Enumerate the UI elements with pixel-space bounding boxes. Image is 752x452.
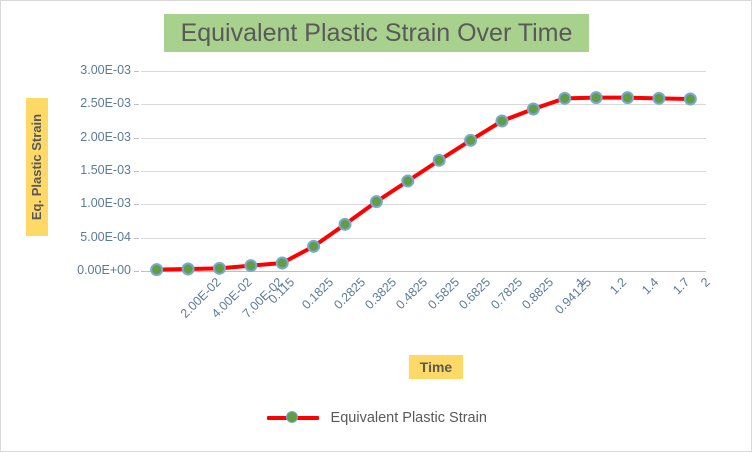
chart-title: Equivalent Plastic Strain Over Time bbox=[164, 14, 589, 52]
y-axis-tick-label: 0.00E+00 bbox=[53, 263, 131, 277]
y-axis-tick-mark bbox=[134, 271, 139, 272]
data-point-marker bbox=[371, 196, 382, 207]
data-point-marker bbox=[685, 94, 696, 105]
legend-entry-label: Equivalent Plastic Strain bbox=[331, 410, 487, 426]
x-axis-line bbox=[141, 271, 706, 272]
y-axis-tick-mark bbox=[134, 71, 139, 72]
data-point-marker bbox=[496, 116, 507, 127]
data-point-marker bbox=[465, 135, 476, 146]
y-axis-title-label: Eq. Plastic Strain bbox=[26, 98, 48, 236]
x-axis-tick-label: 0.8825 bbox=[519, 275, 556, 312]
y-axis-tick-label: 3.00E-03 bbox=[53, 63, 131, 77]
data-point-marker bbox=[308, 241, 319, 252]
chart-legend: Equivalent Plastic Strain bbox=[1, 409, 752, 427]
y-axis-tick-labels: 3.00E-032.50E-032.00E-031.50E-031.00E-03… bbox=[53, 71, 131, 271]
x-axis-tick-label: 1.4 bbox=[639, 275, 661, 297]
y-axis-tick-label: 2.00E-03 bbox=[53, 130, 131, 144]
data-point-marker bbox=[434, 155, 445, 166]
x-axis-tick-label: 1.7 bbox=[670, 275, 692, 297]
plot-area bbox=[141, 71, 706, 271]
chart-container: Equivalent Plastic Strain Over Time Eq. … bbox=[0, 0, 752, 452]
x-axis-tick-label: 0.5825 bbox=[425, 275, 462, 312]
y-axis-tick-label: 1.50E-03 bbox=[53, 163, 131, 177]
series-line-chart bbox=[141, 71, 706, 271]
data-point-marker bbox=[277, 258, 288, 269]
y-axis-tick-mark bbox=[134, 171, 139, 172]
data-point-marker bbox=[340, 219, 351, 230]
x-axis-tick-label: 0.4825 bbox=[394, 275, 431, 312]
data-point-marker bbox=[653, 93, 664, 104]
data-point-marker bbox=[622, 92, 633, 103]
x-axis-tick-label: 0.2825 bbox=[331, 275, 368, 312]
series-line bbox=[157, 98, 691, 270]
y-axis-tick-label: 5.00E-04 bbox=[53, 230, 131, 244]
data-point-marker bbox=[245, 260, 256, 271]
x-axis-tick-label: 2 bbox=[698, 275, 713, 290]
data-point-marker bbox=[402, 176, 413, 187]
data-point-marker bbox=[183, 264, 194, 275]
data-point-marker bbox=[151, 264, 162, 275]
x-axis-tick-label: 0.6825 bbox=[456, 275, 493, 312]
legend-marker-icon bbox=[267, 410, 319, 426]
x-axis-title: Time bbox=[409, 355, 463, 379]
data-point-marker bbox=[591, 92, 602, 103]
x-axis-tick-label: 0.7825 bbox=[488, 275, 525, 312]
data-point-marker bbox=[528, 104, 539, 115]
x-axis-tick-labels: 2.00E-024.00E-027.00E-020.1150.18250.282… bbox=[141, 275, 706, 345]
y-axis-tick-label: 2.50E-03 bbox=[53, 96, 131, 110]
y-axis-tick-mark bbox=[134, 138, 139, 139]
y-axis-tick-mark bbox=[134, 238, 139, 239]
y-axis-title: Eq. Plastic Strain bbox=[26, 98, 48, 236]
y-axis-tick-mark bbox=[134, 104, 139, 105]
legend-point-icon bbox=[286, 411, 298, 423]
y-axis-tick-mark bbox=[134, 204, 139, 205]
data-point-marker bbox=[214, 263, 225, 274]
x-axis-tick-label: 1.2 bbox=[607, 275, 629, 297]
x-axis-tick-label: 0.1825 bbox=[299, 275, 336, 312]
data-point-marker bbox=[559, 93, 570, 104]
x-axis-tick-label: 0.3825 bbox=[362, 275, 399, 312]
y-axis-tick-label: 1.00E-03 bbox=[53, 196, 131, 210]
